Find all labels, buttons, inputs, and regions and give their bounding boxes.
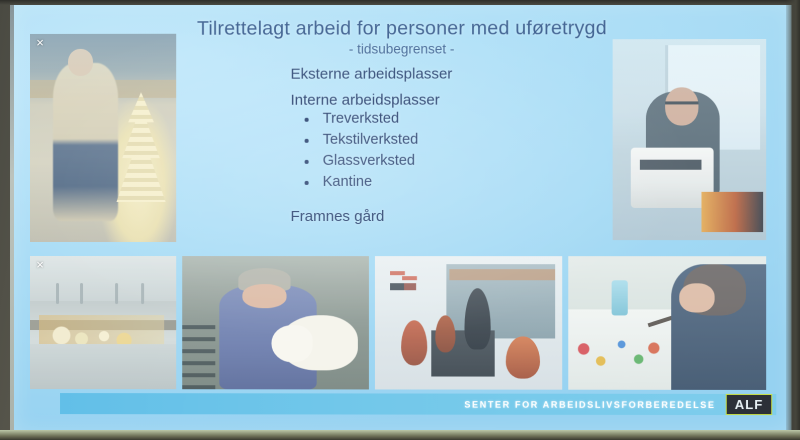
screen-right-edge [786, 0, 800, 440]
lamp-shape [506, 336, 540, 379]
person-shape [53, 63, 117, 221]
screen-bottom-edge [0, 430, 800, 440]
alf-logo-text: ALF [735, 398, 764, 411]
slide-surface: Tilrettelagt arbeid for personer med ufø… [14, 3, 791, 433]
photo-mosaic [568, 256, 766, 390]
photo-canteen-content [30, 256, 176, 389]
footer-organisation-text: SENTER FOR ARBEIDSLIVSFORBEREDELSE [464, 399, 715, 409]
fabric-shape [702, 192, 763, 232]
lamb-head-shape [272, 325, 313, 362]
alf-logo: ALF [726, 394, 773, 415]
list-item: Tekstilverksted [305, 132, 593, 148]
heading-external-workplaces: Eksterne arbeidsplasser [291, 65, 593, 82]
cabinet-handle-shape [141, 283, 144, 304]
sewing-machine-arm-shape [640, 160, 701, 170]
photo-woodworkshop-content [30, 34, 176, 242]
glue-bottle-shape [612, 280, 628, 315]
screen-left-edge [10, 0, 14, 440]
person-face-shape [679, 283, 715, 312]
heading-internal-workplaces: Interne arbeidsplasser [291, 91, 593, 108]
photo-mosaic-content [568, 256, 766, 390]
photo-sewing [613, 39, 767, 240]
closing-line-framnes-gard: Framnes gård [291, 208, 593, 225]
glasses-shape [665, 101, 699, 104]
barn-pen-rail-shape [182, 325, 216, 389]
list-item: Kantine [305, 174, 593, 190]
photo-glass-lamps [375, 256, 562, 390]
list-item: Glassverksted [305, 153, 593, 169]
cabinet-handle-shape [115, 283, 118, 304]
person-head-shape [68, 48, 93, 75]
person-head-shape [665, 87, 699, 125]
cabinets-shape [30, 256, 176, 301]
slide-footer-band: SENTER FOR ARBEIDSLIVSFORBEREDELSE ALF [60, 393, 776, 415]
photo-lamb-content [182, 256, 369, 389]
slide-body: Eksterne arbeidsplasser Interne arbeidsp… [291, 65, 593, 234]
cabinet-handle-shape [56, 283, 59, 304]
screen-top-edge [0, 0, 800, 5]
cabinet-handle-shape [80, 283, 83, 304]
wall-pictures-shape [390, 267, 431, 312]
photo-sewing-content [613, 39, 767, 240]
body-spacer [291, 200, 593, 208]
internal-workplaces-list: Treverksted Tekstilverksted Glassverkste… [291, 111, 593, 190]
roof-shape [450, 269, 555, 280]
person-face-shape [242, 284, 287, 308]
base-cabinets-shape [30, 344, 176, 389]
broken-image-x-icon: × [33, 36, 47, 50]
broken-image-x-icon: × [33, 258, 47, 272]
lamp-shape [401, 320, 427, 365]
mosaic-pieces-shape [572, 331, 667, 377]
list-item: Treverksted [305, 111, 593, 127]
projected-slide-photo: Tilrettelagt arbeid for personer med ufø… [0, 0, 800, 440]
wooden-tree-shape [112, 92, 170, 229]
photo-glass-lamps-content [375, 256, 562, 390]
photo-woodworkshop: × [30, 34, 176, 242]
photo-lamb [182, 256, 369, 389]
lamp-shape [435, 315, 456, 352]
photo-canteen: × [30, 256, 176, 389]
